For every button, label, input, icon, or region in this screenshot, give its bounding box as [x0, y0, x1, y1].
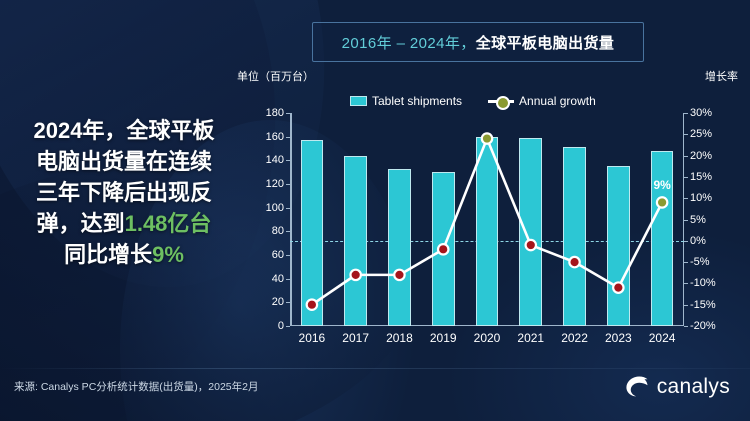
legend-label-line: Annual growth: [519, 94, 596, 108]
data-label-2024: 9%: [653, 178, 670, 192]
y-tick-label-left: 100: [244, 202, 284, 214]
y-tick-label-right: 10%: [690, 192, 728, 204]
growth-marker-2020[interactable]: [482, 133, 492, 143]
headline-highlight-growth: 9%: [152, 242, 184, 267]
headline-message: 2024年，全球平板 电脑出货量在连续 三年下降后出现反 弹，达到1.48亿台 …: [8, 115, 240, 270]
growth-marker-2023[interactable]: [613, 282, 623, 292]
y-tick-left: [286, 326, 290, 327]
y-axis-title-left: 单位（百万台）: [237, 68, 314, 84]
y-tick-label-right: 20%: [690, 150, 728, 162]
canalys-swoosh-icon: [624, 375, 650, 399]
y-tick-label-left: 140: [244, 154, 284, 166]
growth-marker-2018[interactable]: [394, 270, 404, 280]
y-tick-label-right: 30%: [690, 107, 728, 119]
x-tick-label-2016: 2016: [299, 331, 326, 345]
y-tick-label-left: 60: [244, 249, 284, 261]
y-tick-label-right: -20%: [690, 320, 728, 332]
legend-bar-swatch-icon: [350, 96, 367, 106]
y-tick-right: [684, 198, 688, 199]
headline-line-4: 弹，达到1.48亿台: [8, 208, 240, 239]
y-tick-right: [684, 134, 688, 135]
y-tick-label-right: 0%: [690, 235, 728, 247]
y-axis-title-right: 增长率: [705, 68, 738, 84]
footer-divider: [0, 368, 750, 369]
growth-marker-2017[interactable]: [350, 270, 360, 280]
growth-marker-2024[interactable]: [657, 197, 667, 207]
y-tick-label-left: 40: [244, 273, 284, 285]
y-tick-right: [684, 156, 688, 157]
legend-item-bars: Tablet shipments: [350, 94, 462, 108]
title-years: 2016年 – 2024年，: [342, 35, 476, 52]
y-tick-right: [684, 305, 688, 306]
legend-label-bars: Tablet shipments: [372, 94, 462, 108]
chart-title-box: 2016年 – 2024年，全球平板电脑出货量: [312, 22, 644, 62]
y-tick-right: [684, 241, 688, 242]
brand-name: canalys: [657, 375, 730, 399]
x-tick-label-2021: 2021: [517, 331, 544, 345]
y-tick-label-left: 20: [244, 296, 284, 308]
x-tick-label-2022: 2022: [561, 331, 588, 345]
y-tick-label-right: 25%: [690, 128, 728, 140]
headline-highlight-shipments: 1.48亿台: [125, 211, 212, 236]
page-title: 2016年 – 2024年，全球平板电脑出货量: [342, 32, 615, 53]
y-tick-label-right: -15%: [690, 299, 728, 311]
x-tick-label-2018: 2018: [386, 331, 413, 345]
x-tick-label-2017: 2017: [342, 331, 369, 345]
y-tick-right: [684, 220, 688, 221]
headline-line-2: 电脑出货量在连续: [8, 146, 240, 177]
headline-line-3: 三年下降后出现反: [8, 177, 240, 208]
headline-line-5-text: 同比增长: [64, 242, 152, 267]
x-tick-label-2023: 2023: [605, 331, 632, 345]
headline-line-5: 同比增长9%: [8, 239, 240, 270]
y-tick-label-right: -10%: [690, 277, 728, 289]
legend-item-line: Annual growth: [488, 94, 596, 108]
y-tick-label-right: 15%: [690, 171, 728, 183]
brand-logo: canalys: [624, 375, 730, 399]
growth-marker-2022[interactable]: [569, 257, 579, 267]
y-tick-label-left: 80: [244, 225, 284, 237]
growth-marker-2021[interactable]: [526, 240, 536, 250]
headline-line-4-text: 弹，达到: [37, 211, 125, 236]
x-tick-label-2024: 2024: [649, 331, 676, 345]
y-tick-label-right: 5%: [690, 214, 728, 226]
y-tick-label-right: -5%: [690, 256, 728, 268]
x-tick-label-2020: 2020: [474, 331, 501, 345]
y-tick-label-left: 180: [244, 107, 284, 119]
y-tick-label-left: 120: [244, 178, 284, 190]
y-tick-label-left: 0: [244, 320, 284, 332]
y-tick-right: [684, 177, 688, 178]
y-tick-right: [684, 262, 688, 263]
title-subject: 全球平板电脑出货量: [476, 35, 615, 52]
growth-line-path: [312, 139, 662, 305]
legend-line-marker-icon: [488, 96, 514, 106]
source-note: 来源: Canalys PC分析统计数据(出货量)，2025年2月: [14, 379, 258, 394]
headline-line-1: 2024年，全球平板: [8, 115, 240, 146]
slide-canvas: 2016年 – 2024年，全球平板电脑出货量 2024年，全球平板 电脑出货量…: [0, 0, 750, 421]
y-tick-right: [684, 326, 688, 327]
plot-area: 020406080100120140160180 -20%-15%-10%-5%…: [290, 113, 684, 326]
y-tick-right: [684, 283, 688, 284]
growth-marker-2016[interactable]: [307, 300, 317, 310]
chart-area: 单位（百万台） 增长率 Tablet shipments Annual grow…: [232, 68, 742, 364]
y-tick-right: [684, 113, 688, 114]
y-tick-label-left: 160: [244, 131, 284, 143]
growth-marker-2019[interactable]: [438, 244, 448, 254]
growth-line-series: [290, 113, 684, 326]
x-tick-label-2019: 2019: [430, 331, 457, 345]
chart-legend: Tablet shipments Annual growth: [350, 94, 596, 108]
